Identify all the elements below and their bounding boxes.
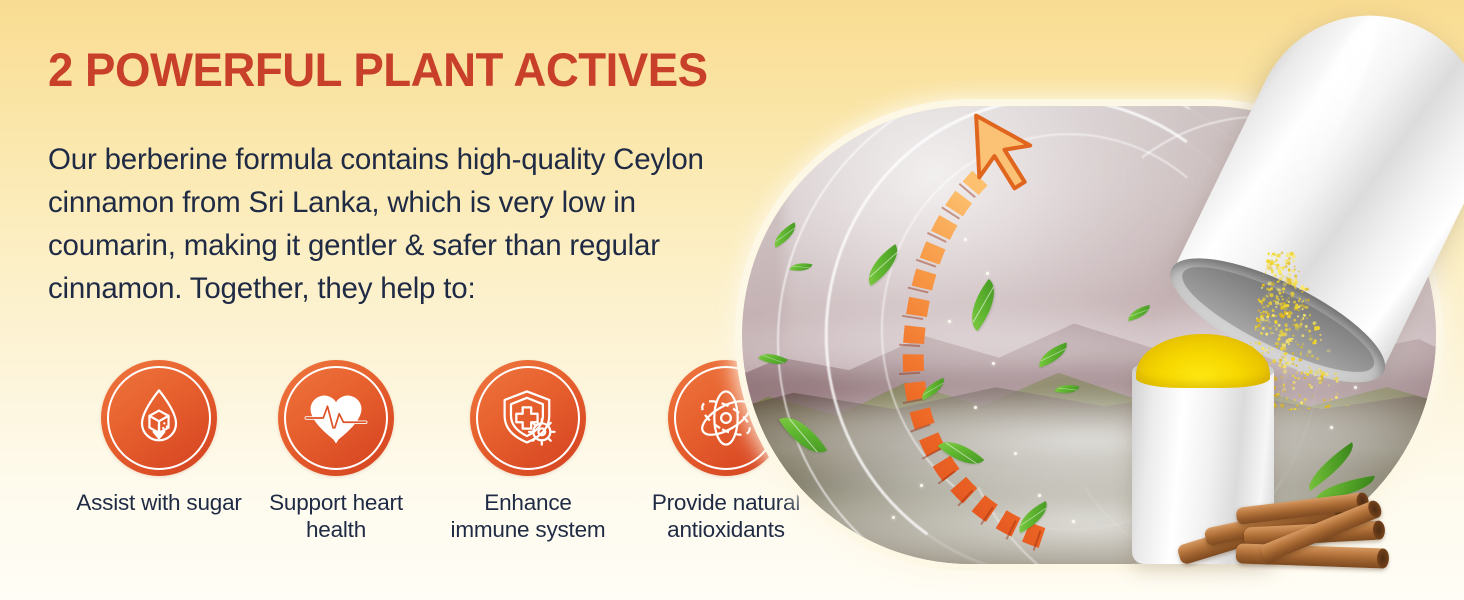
cinnamon-stick: [1236, 543, 1389, 568]
left-text-column: 2 POWERFUL PLANT ACTIVES Our berberine f…: [46, 0, 746, 600]
body-paragraph: Our berberine formula contains high-qual…: [48, 138, 738, 310]
benefit-badge: [101, 360, 217, 476]
benefit-badge: [470, 360, 586, 476]
blood-sugar-droplet-icon: [125, 384, 193, 452]
benefit-label: Assist with sugar: [74, 489, 244, 516]
benefit-item-sugar: Assist with sugar: [74, 360, 244, 516]
benefit-item-immune: Enhance immune system: [443, 360, 613, 543]
benefits-list: Assist with sugar Support heart health: [46, 360, 806, 570]
heart-pulse-icon: [302, 384, 370, 452]
benefit-badge: [278, 360, 394, 476]
cinnamon-sticks-icon: [1188, 452, 1418, 582]
shield-virus-icon: [494, 384, 562, 452]
benefit-item-heart: Support heart health: [251, 360, 421, 543]
benefit-label: Enhance immune system: [443, 489, 613, 543]
page-title: 2 POWERFUL PLANT ACTIVES: [48, 42, 708, 97]
product-benefits-banner: 2 POWERFUL PLANT ACTIVES Our berberine f…: [0, 0, 1464, 600]
benefit-label: Support heart health: [251, 489, 421, 543]
